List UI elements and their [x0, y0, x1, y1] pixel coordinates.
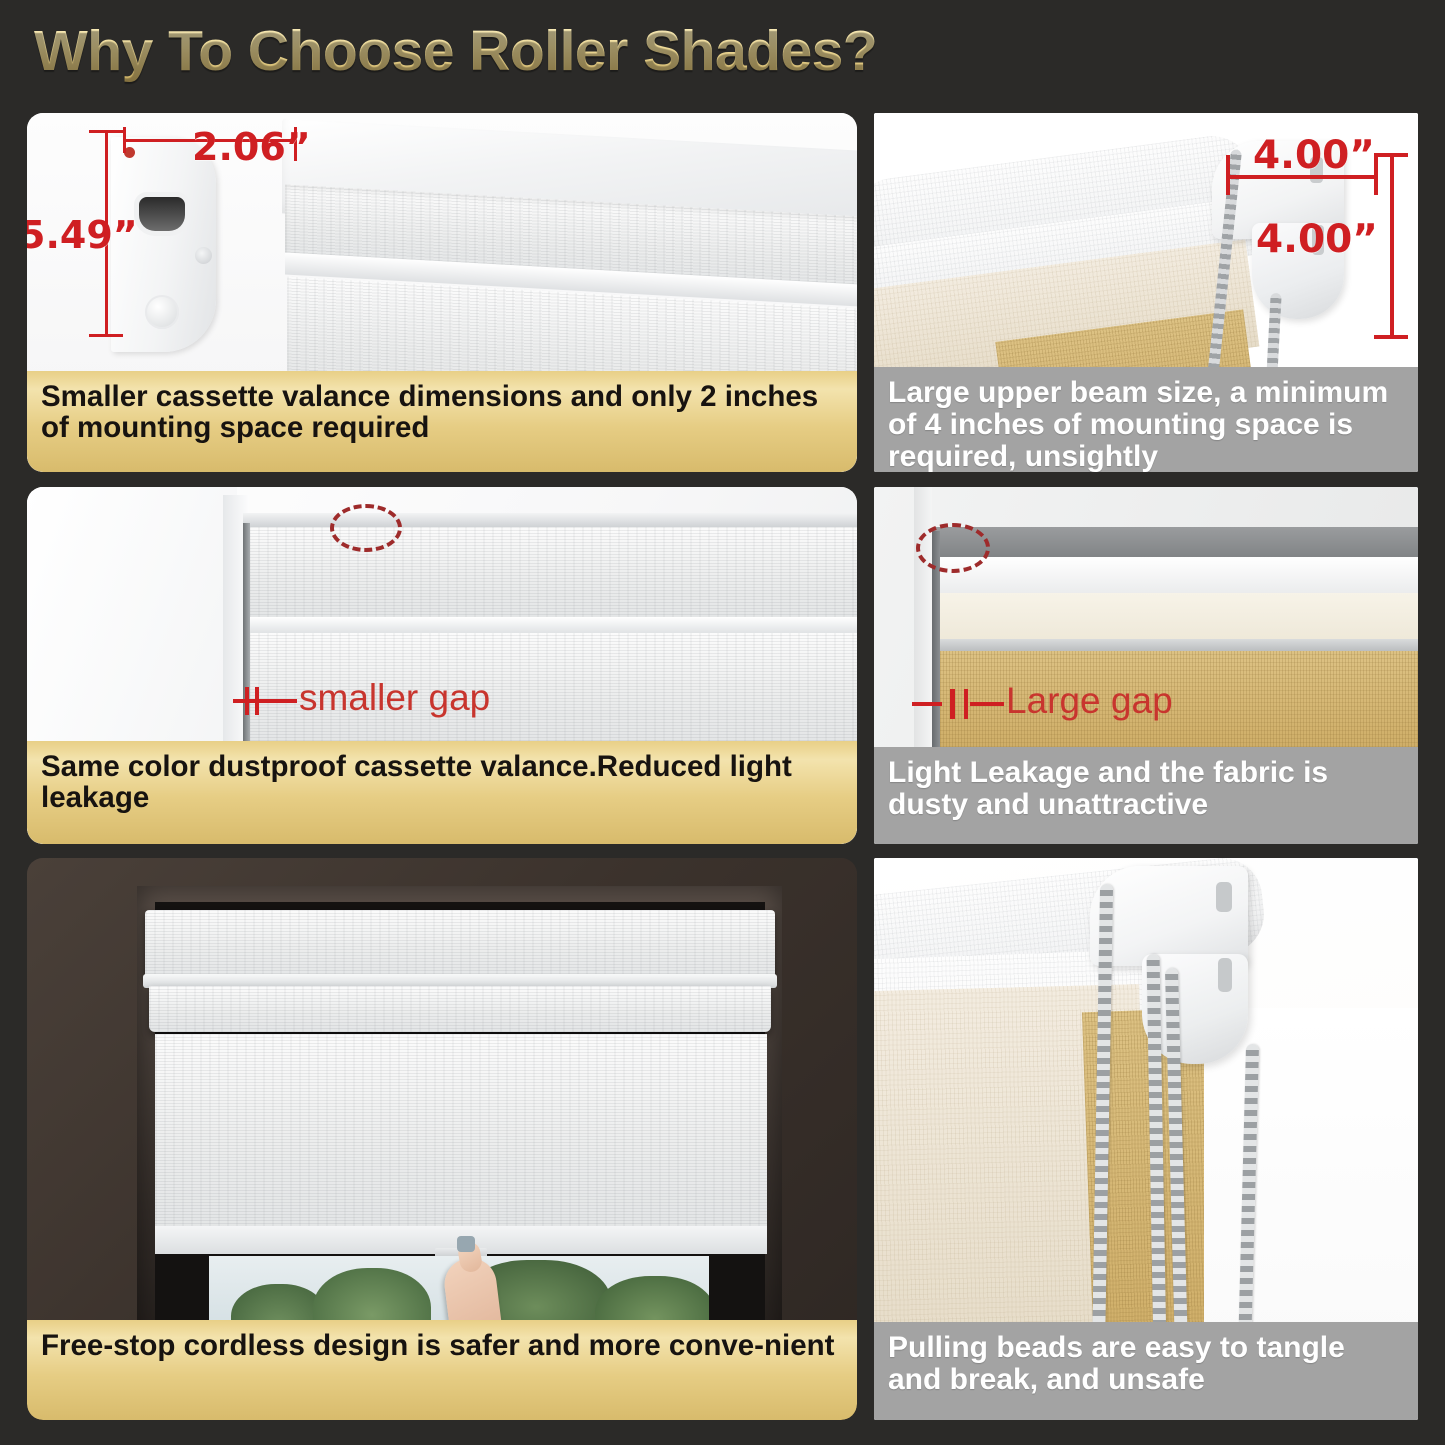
width-dimension-tick-left	[123, 127, 126, 153]
leak-highlight-circle	[916, 523, 990, 573]
height-dimension-label: 5.49”	[27, 213, 138, 257]
caption-dustproof-valance: Same color dustproof cassette valance.Re…	[27, 741, 857, 844]
page-title: Why To Choose Roller Shades?	[34, 18, 877, 84]
infographic-root: Why To Choose Roller Shades? 2.06”	[0, 0, 1445, 1445]
gap-highlight-circle	[330, 504, 402, 552]
panel-light-leakage: Large gap Light Leakage and the fabric i…	[874, 487, 1418, 844]
width-dimension-label: 2.06”	[192, 125, 311, 169]
panel-dustproof-valance: smaller gap Same color dustproof cassett…	[27, 487, 857, 844]
panel-cordless-design: Free-stop cordless design is safer and m…	[27, 858, 857, 1420]
beam-width-label: 4.00”	[1253, 133, 1375, 178]
large-gap-label: Large gap	[1006, 680, 1173, 722]
caption-large-upper-beam: Large upper beam size, a minimum of 4 in…	[874, 367, 1418, 472]
caption-pulling-beads: Pulling beads are easy to tangle and bre…	[874, 1322, 1418, 1420]
caption-cassette-dimensions: Smaller cassette valance dimensions and …	[27, 371, 857, 472]
height-dimension-tick-top	[89, 130, 123, 133]
smaller-gap-label: smaller gap	[299, 677, 490, 719]
beam-height-label: 4.00”	[1256, 217, 1378, 262]
height-dimension-tick-bottom	[89, 334, 123, 337]
panel-pulling-beads: Pulling beads are easy to tangle and bre…	[874, 858, 1418, 1420]
caption-cordless-design: Free-stop cordless design is safer and m…	[27, 1320, 857, 1420]
caption-light-leakage: Light Leakage and the fabric is dusty an…	[874, 747, 1418, 844]
panel-cassette-dimensions: 2.06” 5.49” Smaller cassette valance dim…	[27, 113, 857, 472]
panel-large-upper-beam: 4.00” 4.00” Large upper beam size, a min…	[874, 113, 1418, 472]
